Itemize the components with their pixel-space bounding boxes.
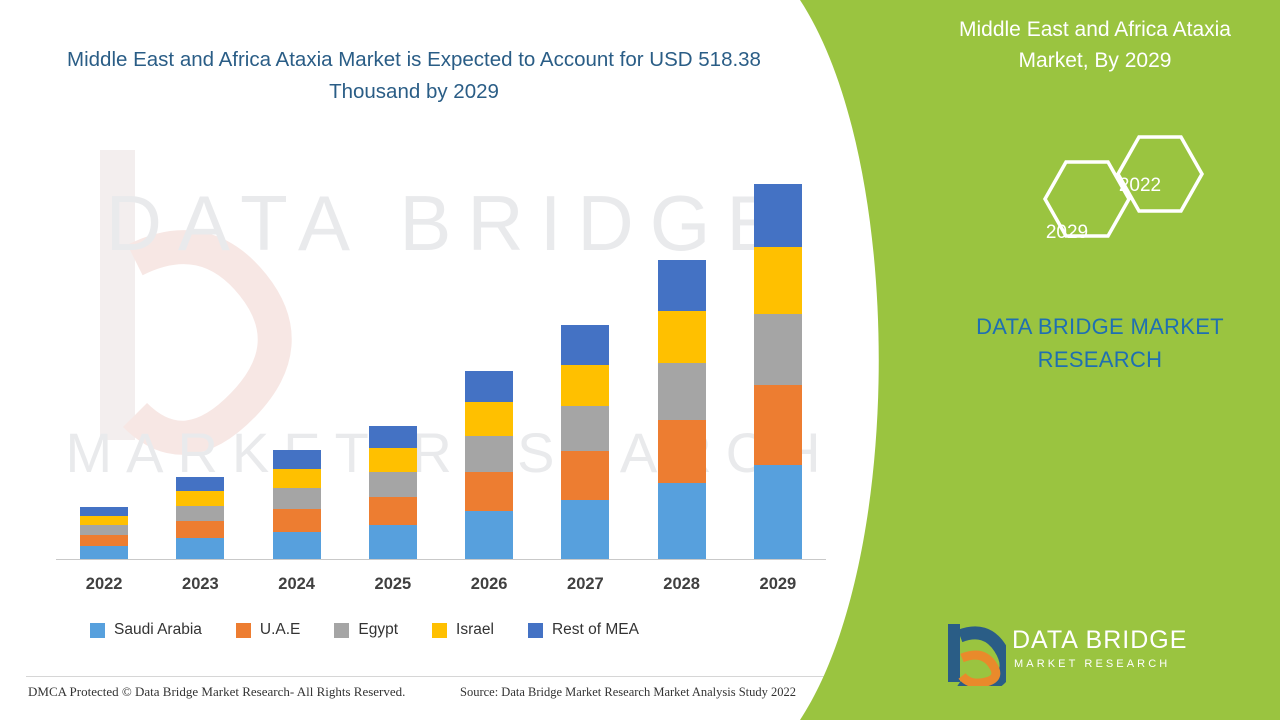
legend-swatch: [432, 623, 447, 638]
bar-segment: [80, 525, 128, 535]
bar-segment: [465, 371, 513, 403]
hexagon-label-2029: 2029: [1017, 222, 1117, 244]
bar-segment: [754, 314, 802, 386]
x-axis-tick-label: 2028: [637, 575, 727, 594]
bar-segment: [273, 488, 321, 509]
bar-column: [658, 260, 706, 559]
footer-divider: [26, 676, 846, 677]
bar-segment: [176, 491, 224, 506]
bar-segment: [465, 511, 513, 559]
bar-segment: [561, 406, 609, 451]
hexagon-graphic: 2029 2022: [1000, 132, 1220, 277]
legend-label: Israel: [456, 621, 494, 639]
bar-segment: [176, 506, 224, 521]
bar-segment: [369, 525, 417, 559]
legend-swatch: [334, 623, 349, 638]
bar-column: [273, 450, 321, 559]
x-axis-tick-label: 2027: [540, 575, 630, 594]
bar-segment: [561, 325, 609, 364]
bar-segment: [273, 450, 321, 469]
brand-logo-subtext: MARKET RESEARCH: [1014, 658, 1170, 670]
brand-logo: DATA BRIDGE MARKET RESEARCH: [940, 620, 1260, 690]
x-axis-tick-label: 2026: [444, 575, 534, 594]
bar-segment: [465, 402, 513, 435]
bar-segment: [754, 184, 802, 247]
x-axis-tick-label: 2023: [155, 575, 245, 594]
bar-segment: [80, 516, 128, 525]
panel-title: Middle East and Africa Ataxia Market, By…: [930, 14, 1260, 76]
bar-segment: [273, 509, 321, 532]
legend-item: Rest of MEA: [528, 621, 639, 639]
bar-segment: [80, 546, 128, 559]
bar-segment: [465, 436, 513, 472]
bar-segment: [658, 363, 706, 420]
chart-area: DATA BRIDGE MARKET RESEARCH Middle East …: [0, 0, 900, 720]
bar-segment: [80, 507, 128, 516]
x-axis-line: [56, 559, 826, 560]
bar-segment: [176, 477, 224, 491]
legend-label: Rest of MEA: [552, 621, 639, 639]
legend-item: Saudi Arabia: [90, 621, 202, 639]
x-axis-tick-label: 2024: [252, 575, 342, 594]
bar-segment: [369, 448, 417, 472]
bar-segment: [273, 469, 321, 488]
brand-name: DATA BRIDGE MARKET RESEARCH: [930, 310, 1270, 376]
bar-segment: [176, 521, 224, 538]
bar-segment: [658, 420, 706, 483]
data-bridge-logo-icon: [940, 620, 1006, 686]
legend-item: Egypt: [334, 621, 398, 639]
chart-legend: Saudi ArabiaU.A.EEgyptIsraelRest of MEA: [90, 618, 790, 642]
bar-segment: [561, 451, 609, 500]
legend-item: Israel: [432, 621, 494, 639]
bar-segment: [369, 426, 417, 448]
bar-segment: [658, 260, 706, 310]
bar-segment: [561, 500, 609, 559]
legend-swatch: [528, 623, 543, 638]
bar-column: [754, 184, 802, 559]
bar-segment: [658, 311, 706, 363]
bar-segment: [754, 465, 802, 559]
legend-item: U.A.E: [236, 621, 300, 639]
bar-segment: [80, 535, 128, 546]
bar-segment: [754, 247, 802, 313]
legend-label: Egypt: [358, 621, 398, 639]
bar-column: [369, 426, 417, 559]
footer-copyright: DMCA Protected © Data Bridge Market Rese…: [28, 684, 405, 700]
page-title: Middle East and Africa Ataxia Market is …: [44, 44, 784, 108]
legend-swatch: [90, 623, 105, 638]
brand-panel: Middle East and Africa Ataxia Market, By…: [800, 0, 1280, 720]
legend-label: Saudi Arabia: [114, 621, 202, 639]
stacked-bar-plot: [56, 170, 826, 560]
legend-swatch: [236, 623, 251, 638]
bar-column: [561, 325, 609, 559]
bar-segment: [561, 365, 609, 407]
bar-segment: [369, 472, 417, 497]
bar-column: [80, 507, 128, 559]
bar-segment: [754, 385, 802, 464]
hexagon-label-2022: 2022: [1090, 175, 1190, 197]
bar-column: [176, 477, 224, 559]
legend-label: U.A.E: [260, 621, 300, 639]
brand-logo-text: DATA BRIDGE: [1012, 626, 1187, 655]
x-axis-labels: 20222023202420252026202720282029: [56, 575, 826, 599]
hexagon-icon: [1000, 132, 1220, 277]
bar-segment: [658, 483, 706, 559]
x-axis-tick-label: 2022: [59, 575, 149, 594]
bar-column: [465, 371, 513, 559]
footer-source: Source: Data Bridge Market Research Mark…: [460, 685, 796, 700]
bar-segment: [369, 497, 417, 525]
x-axis-tick-label: 2025: [348, 575, 438, 594]
bar-segment: [273, 532, 321, 559]
bar-segment: [465, 472, 513, 511]
bar-segment: [176, 538, 224, 559]
